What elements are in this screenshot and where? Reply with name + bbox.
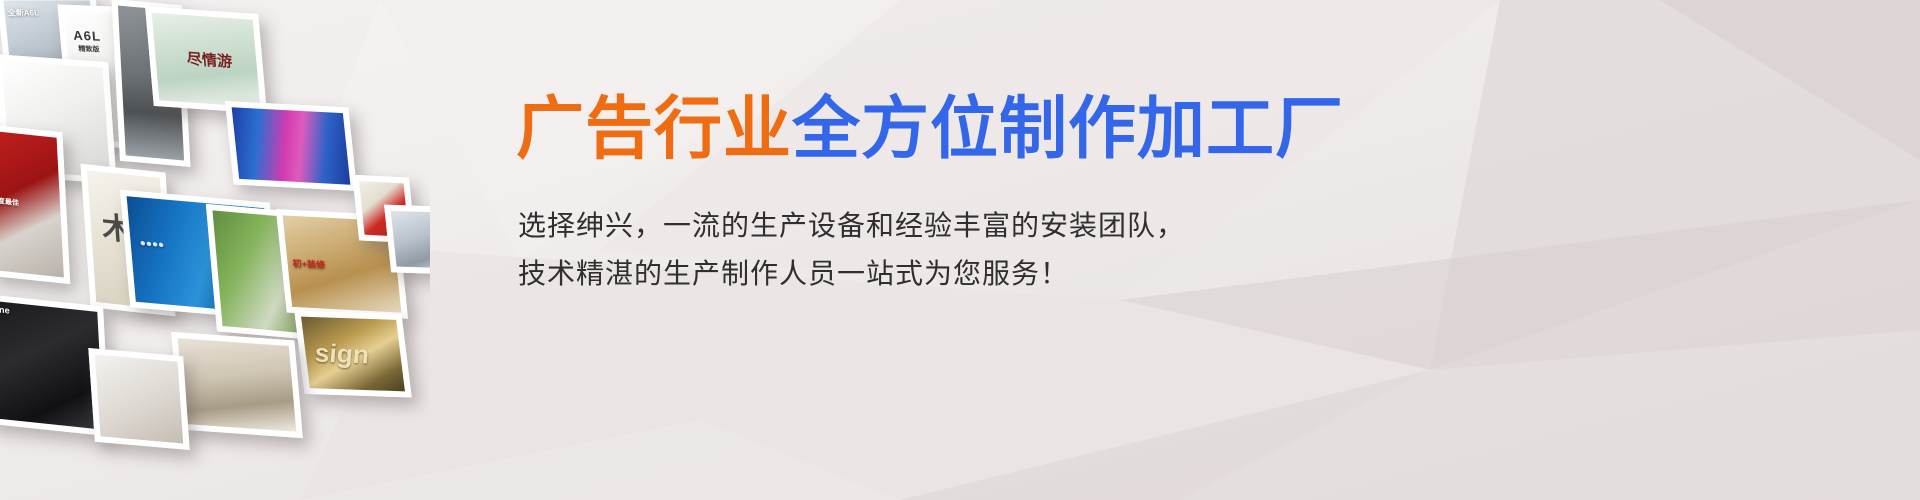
photo-colorful-flag-banners xyxy=(225,101,357,191)
photo-caption: 年度最佳 xyxy=(0,195,19,208)
subtitle-line-2: 技术精湛的生产制作人员一站式为您服务！ xyxy=(518,252,1069,292)
photo-caption: sign xyxy=(313,338,371,371)
photo-gold-3d-sign-letters: sign xyxy=(294,310,411,397)
photo-interior-shop-display xyxy=(171,332,303,438)
photo-car-showroom xyxy=(384,205,430,276)
photo-light-box-sign xyxy=(88,348,189,450)
headline-orange-text: 广告行业 xyxy=(516,90,792,169)
page-title: 广告行业全方位制作加工厂 xyxy=(516,96,1344,164)
photo-shop-sign-jinqingyu: 尽情游 xyxy=(145,6,267,114)
photo-caption: hone xyxy=(0,303,10,315)
subtitle-line-1: 选择绅兴，一流的生产设备和经验丰富的安装团队， xyxy=(518,204,1185,244)
photo-red-award-wall: 年度最佳 xyxy=(0,124,70,284)
photo-caption: 尽情游 xyxy=(186,48,233,72)
promo-banner: 全新A6L A6L 精致版 尽情游 年度最佳 木 xyxy=(0,0,1920,500)
photo-caption: 全新A6L xyxy=(7,7,39,18)
headline-blue-text: 全方位制作加工厂 xyxy=(792,90,1344,169)
photo-collage: 全新A6L A6L 精致版 尽情游 年度最佳 木 xyxy=(0,0,430,500)
